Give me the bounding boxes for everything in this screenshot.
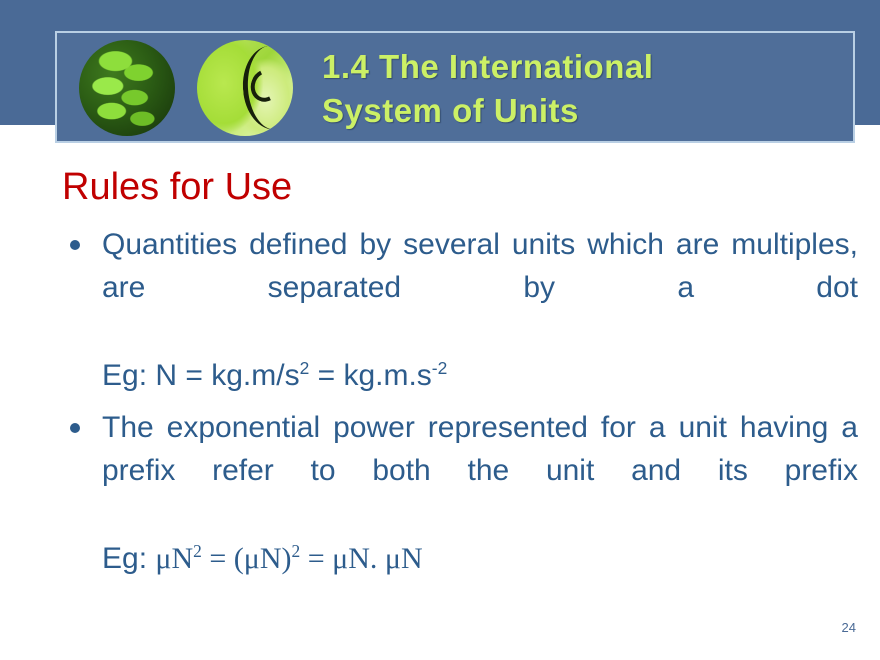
bullet-text: Quantities defined by several units whic…: [102, 223, 858, 352]
section-heading: Rules for Use: [62, 165, 292, 209]
formula-middle: = kg.m.s: [309, 359, 432, 392]
formula-equals-2: =: [300, 542, 332, 575]
bullet-text: The exponential power represented for a …: [102, 406, 858, 535]
formula-label: Eg:: [102, 542, 155, 575]
bullet-dot-icon: [70, 240, 80, 250]
formula-equals-1: = (: [202, 542, 244, 575]
page-number: 24: [842, 621, 856, 634]
formula-superscript-2: 2: [292, 541, 301, 561]
formula-close-paren: ): [282, 542, 292, 575]
bullet-dot-icon: [70, 423, 80, 433]
formula-expr-2: μN: [244, 542, 282, 575]
formula-expr-1: μN: [155, 542, 193, 575]
formula-superscript-1: 2: [300, 358, 310, 378]
slide-title-line-1: 1.4 The International: [322, 45, 842, 89]
list-item: The exponential power represented for a …: [58, 406, 858, 535]
slide-title: 1.4 The International System of Units: [322, 45, 842, 133]
list-item: Quantities defined by several units whic…: [58, 223, 858, 352]
bullet-list: Quantities defined by several units whic…: [58, 223, 858, 583]
green-puzzle-orb-icon: [197, 40, 293, 136]
formula-superscript-1: 2: [193, 541, 202, 561]
green-leaf-orb-icon: [79, 40, 175, 136]
slide-content: Rules for Use Quantities defined by seve…: [0, 125, 880, 660]
formula-expr-3: μN. μN: [332, 542, 423, 575]
slide-root: 1.4 The International System of Units Ru…: [0, 0, 880, 660]
example-formula-2: Eg: μN2 = (μN)2 = μN. μN: [58, 535, 858, 583]
formula-superscript-2: -2: [432, 358, 447, 378]
formula-prefix: Eg: N = kg.m/s: [102, 359, 300, 392]
example-formula-1: Eg: N = kg.m/s2 = kg.m.s-2: [58, 352, 858, 400]
